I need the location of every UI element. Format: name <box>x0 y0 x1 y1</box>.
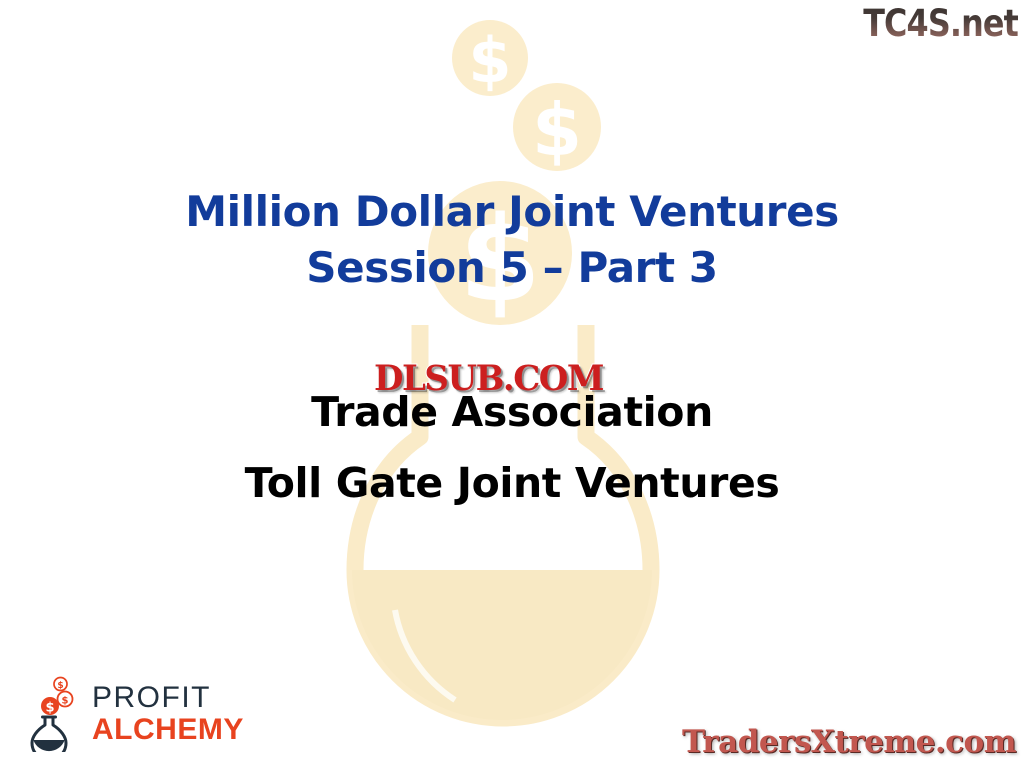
slide-canvas: $ $ $ TC4S.net Million Dollar Joint Vent… <box>0 0 1024 768</box>
logo-word-profit: PROFIT <box>92 683 244 713</box>
svg-text:$: $ <box>468 24 511 97</box>
svg-text:$: $ <box>532 88 582 172</box>
page-title: Million Dollar Joint Ventures Session 5 … <box>0 184 1024 296</box>
title-line-1: Million Dollar Joint Ventures <box>0 184 1024 240</box>
logo-coin-bottom: $ <box>41 697 59 716</box>
svg-text:$: $ <box>45 701 54 716</box>
watermark-coin-medium: $ <box>513 83 601 172</box>
dlsub-watermark: DLSUB.COM <box>374 358 603 399</box>
flask-with-dollar-coins-icon: $ $ $ <box>26 676 84 752</box>
profit-alchemy-logo: $ $ $ PROFIT ALCHEMY <box>26 676 244 752</box>
profit-alchemy-wordmark: PROFIT ALCHEMY <box>92 683 244 745</box>
svg-text:$: $ <box>57 681 63 691</box>
logo-coin-top: $ <box>54 678 67 692</box>
subtitle-line-2: Toll Gate Joint Ventures <box>0 448 1024 519</box>
title-line-2: Session 5 – Part 3 <box>0 240 1024 296</box>
tc4s-brand-logo: TC4S.net <box>863 2 1018 45</box>
logo-coin-middle: $ <box>58 692 73 707</box>
logo-flask-shape <box>32 717 66 752</box>
tradersxtreme-watermark: TradersXtreme.com <box>682 724 1016 760</box>
watermark-coin-small-top: $ <box>452 20 528 97</box>
logo-word-alchemy: ALCHEMY <box>92 715 244 745</box>
svg-text:$: $ <box>62 696 69 707</box>
